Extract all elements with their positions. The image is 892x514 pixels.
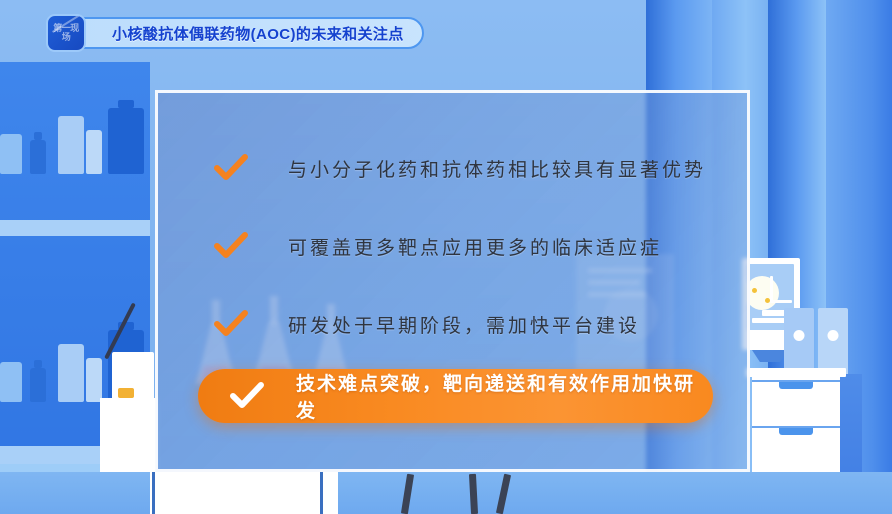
check-icon bbox=[208, 310, 254, 338]
binder-hole bbox=[828, 330, 839, 341]
shelf-board-upper bbox=[0, 220, 150, 236]
program-logo: 第一现场 bbox=[46, 14, 86, 52]
chart-line bbox=[770, 300, 792, 303]
table-edge bbox=[152, 472, 155, 514]
bottle-neck bbox=[118, 100, 134, 108]
dish-dot bbox=[752, 288, 757, 293]
list-item[interactable]: 与小分子化药和抗体药相比较具有显著优势 bbox=[158, 129, 747, 207]
floor bbox=[0, 472, 892, 514]
drawer-handle bbox=[779, 382, 813, 389]
bottle bbox=[58, 344, 84, 402]
table-edge bbox=[320, 472, 323, 514]
petri-dish-icon bbox=[745, 276, 779, 310]
bottle bbox=[58, 116, 84, 174]
drawer-handle bbox=[779, 428, 813, 435]
bottle bbox=[86, 358, 102, 402]
paper-tab bbox=[118, 388, 134, 398]
bottle bbox=[30, 140, 46, 174]
bottle bbox=[108, 108, 144, 174]
drawer bbox=[752, 426, 840, 472]
check-icon bbox=[208, 232, 254, 260]
list-item-label: 与小分子化药和抗体药相比较具有显著优势 bbox=[288, 155, 706, 182]
bottle-neck bbox=[34, 360, 42, 368]
drawer bbox=[752, 380, 840, 426]
content-panel: 与小分子化药和抗体药相比较具有显著优势 可覆盖更多靶点应用更多的临床适应症 研发… bbox=[155, 90, 750, 472]
cabinet-top bbox=[746, 368, 846, 377]
bottle bbox=[86, 130, 102, 174]
bottle bbox=[30, 368, 46, 402]
title-banner: 小核酸抗体偶联药物(AOC)的未来和关注点 bbox=[58, 17, 424, 49]
list-item-highlighted[interactable]: 技术难点突破，靶向递送和有效作用加快研发 bbox=[158, 369, 747, 423]
chart-line bbox=[770, 276, 773, 302]
bottle bbox=[0, 134, 22, 174]
list-item[interactable]: 可覆盖更多靶点应用更多的临床适应症 bbox=[158, 207, 747, 285]
list-item-label: 技术难点突破，靶向递送和有效作用加快研发 bbox=[296, 369, 713, 423]
slide-canvas: 小核酸抗体偶联药物(AOC)的未来和关注点 第一现场 与小分子化药和抗体药相比较… bbox=[0, 0, 892, 514]
check-icon bbox=[224, 382, 270, 410]
bottle-neck bbox=[34, 132, 42, 140]
bottle bbox=[0, 362, 22, 402]
list-item-label: 研发处于早期阶段，需加快平台建设 bbox=[288, 311, 640, 338]
logo-text: 第一现场 bbox=[51, 19, 81, 47]
page-title: 小核酸抗体偶联药物(AOC)的未来和关注点 bbox=[112, 23, 404, 44]
clipboard-paper bbox=[112, 352, 154, 410]
binder-hole bbox=[794, 330, 805, 341]
bullet-list: 与小分子化药和抗体药相比较具有显著优势 可覆盖更多靶点应用更多的临床适应症 研发… bbox=[158, 93, 747, 469]
check-icon bbox=[208, 154, 254, 182]
list-item-label: 可覆盖更多靶点应用更多的临床适应症 bbox=[288, 233, 662, 260]
highlight-pill[interactable]: 技术难点突破，靶向递送和有效作用加快研发 bbox=[198, 369, 713, 423]
list-item[interactable]: 研发处于早期阶段，需加快平台建设 bbox=[158, 285, 747, 363]
table-surface bbox=[150, 472, 338, 514]
